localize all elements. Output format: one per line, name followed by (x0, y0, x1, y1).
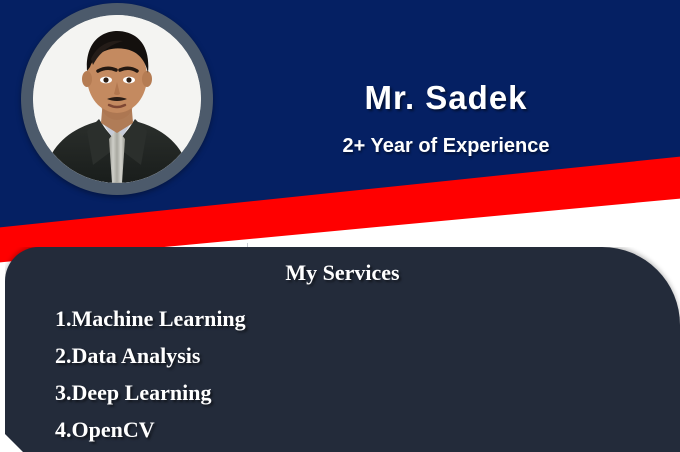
gig-thumbnail-card: Mr. Sadek 2+ Year of Experience My Servi… (0, 0, 680, 452)
list-item: 2.Data Analysis (55, 337, 246, 374)
list-item: 4.OpenCV (55, 411, 246, 448)
avatar-image-clip (33, 15, 201, 183)
list-item: 1.Machine Learning (55, 300, 246, 337)
header-text-group: Mr. Sadek 2+ Year of Experience (236, 80, 656, 158)
avatar (21, 3, 213, 195)
page-title: Mr. Sadek (236, 80, 656, 116)
services-panel: My Services 1.Machine Learning 2.Data An… (5, 247, 680, 452)
services-list: 1.Machine Learning 2.Data Analysis 3.Dee… (55, 300, 246, 448)
experience-tagline: 2+ Year of Experience (236, 135, 656, 158)
services-heading: My Services (5, 260, 680, 286)
portrait-illustration (33, 15, 201, 183)
list-item: 3.Deep Learning (55, 374, 246, 411)
